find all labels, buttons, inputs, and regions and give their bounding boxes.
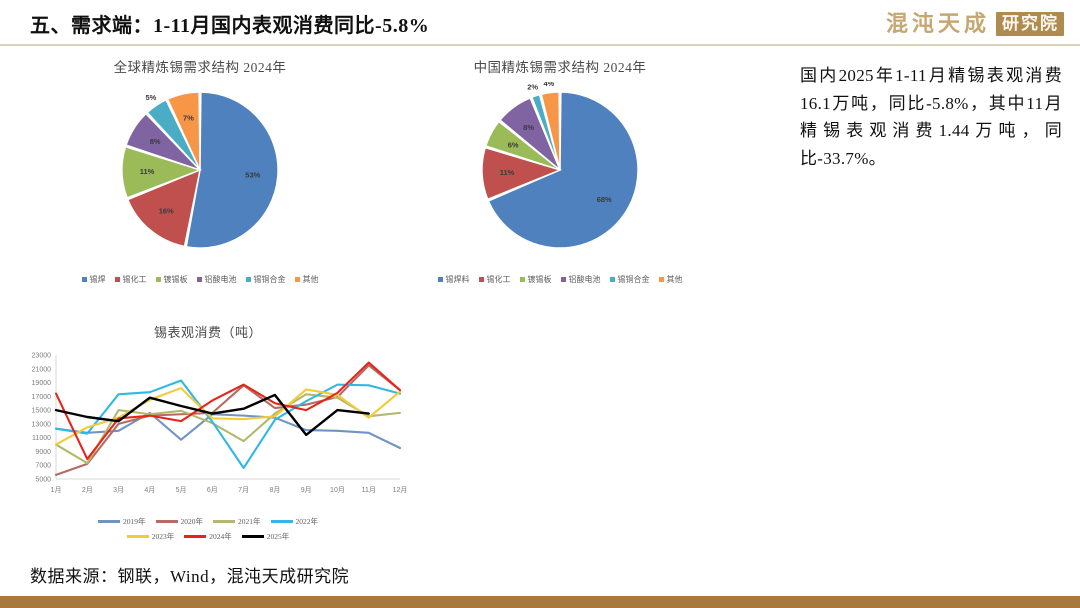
pie-global-stage: 53%16%11%8%5%7% (20, 82, 380, 257)
legend-swatch-icon (156, 277, 161, 282)
chart-title-pie-china: 中国精炼锡需求结构 2024年 (380, 56, 740, 76)
legend-item-label: 锡焊 (90, 274, 106, 285)
side-note-text: 国内2025年1-11月精锡表观消费16.1万吨，同比-5.8%，其中11月精锡… (800, 62, 1062, 172)
legend-item-label: 2022年 (296, 516, 319, 527)
pie-slice-label: 68% (597, 195, 612, 204)
legend-item-label: 2023年 (152, 531, 175, 542)
legend-swatch-icon (479, 277, 484, 282)
legend-item-label: 铝酸电池 (569, 274, 601, 285)
legend-item[interactable]: 其他 (659, 274, 683, 285)
pie-slice-label: 8% (523, 123, 534, 132)
legend-line-swatch-icon (213, 520, 235, 523)
chart-line-consumption: 锡表观消费（吨） 5000700090001100013000150001700… (8, 318, 408, 563)
legend-item-label: 2025年 (267, 531, 290, 542)
legend-item[interactable]: 锡焊 (82, 274, 106, 285)
pie-slice-label: 53% (245, 171, 260, 180)
x-axis-tick-label: 2月 (82, 486, 93, 494)
pie-china-stage: 68%11%6%8%2%4% (380, 82, 740, 257)
header-divider (0, 44, 1080, 46)
company-logo: 混沌天成 研究院 (886, 8, 1064, 40)
footer-accent-bar (0, 596, 1080, 608)
x-axis-tick-label: 9月 (301, 486, 312, 494)
slide-header: 五、需求端：1-11月国内表观消费同比-5.8% 混沌天成 研究院 (0, 0, 1080, 44)
legend-item-label: 2020年 (181, 516, 204, 527)
legend-item-label: 2021年 (238, 516, 261, 527)
pie-slice-label: 11% (140, 167, 155, 176)
legend-item[interactable]: 2021年 (213, 516, 261, 527)
x-axis-tick-label: 1月 (51, 486, 62, 494)
chart-title-pie-global: 全球精炼锡需求结构 2024年 (20, 56, 380, 76)
logo-seal-box: 研究院 (996, 12, 1064, 36)
pie-slice-label: 11% (500, 168, 515, 177)
y-axis-tick-label: 15000 (32, 408, 52, 415)
data-source-label: 数据来源：钢联，Wind，混沌天成研究院 (30, 562, 349, 587)
legend-swatch-icon (115, 277, 120, 282)
legend-swatch-icon (197, 277, 202, 282)
legend-item[interactable]: 2025年 (242, 531, 290, 542)
legend-item[interactable]: 2022年 (271, 516, 319, 527)
legend-item-label: 锡化工 (487, 274, 511, 285)
legend-line-swatch-icon (156, 520, 178, 523)
legend-item-label: 2019年 (123, 516, 146, 527)
legend-swatch-icon (295, 277, 300, 282)
legend-item-label: 镀锡板 (164, 274, 188, 285)
x-axis-tick-label: 4月 (144, 486, 155, 494)
x-axis-tick-label: 3月 (113, 486, 124, 494)
legend-swatch-icon (659, 277, 664, 282)
y-axis-tick-label: 19000 (32, 380, 52, 387)
legend-item[interactable]: 2024年 (184, 531, 232, 542)
x-axis-tick-label: 11月 (362, 486, 376, 494)
page-title: 五、需求端：1-11月国内表观消费同比-5.8% (30, 9, 429, 38)
legend-item-label: 其他 (303, 274, 319, 285)
legend-line-swatch-icon (242, 535, 264, 538)
y-axis-tick-label: 11000 (32, 435, 51, 442)
y-axis-tick-label: 23000 (32, 353, 52, 360)
legend-item-label: 锡化工 (123, 274, 147, 285)
pie-slice-label: 6% (508, 141, 519, 150)
pie-slice-label: 8% (150, 137, 161, 146)
y-axis-tick-label: 13000 (32, 421, 52, 428)
legend-item-label: 2024年 (209, 531, 232, 542)
legend-swatch-icon (561, 277, 566, 282)
pie-slice-label: 7% (183, 114, 194, 123)
pie-china-svg: 68%11%6%8%2%4% (410, 82, 710, 257)
legend-line-swatch-icon (127, 535, 149, 538)
legend-swatch-icon (610, 277, 615, 282)
legend-line-swatch-icon (98, 520, 120, 523)
x-axis-tick-label: 6月 (207, 486, 218, 494)
line-chart-stage: 5000700090001100013000150001700019000210… (8, 347, 408, 507)
legend-item[interactable]: 锡焊料 (438, 274, 470, 285)
y-axis-tick-label: 7000 (35, 463, 51, 470)
legend-item[interactable]: 镀锡板 (520, 274, 552, 285)
line-chart-svg: 5000700090001100013000150001700019000210… (8, 347, 408, 512)
legend-line-chart: 2019年2020年2021年2022年2023年2024年2025年 (8, 516, 408, 546)
legend-pie-china: 锡焊料锡化工镀锡板铝酸电池锡铜合金其他 (380, 274, 740, 285)
pie-slice-label: 5% (145, 93, 156, 102)
legend-item[interactable]: 其他 (295, 274, 319, 285)
legend-item[interactable]: 锡化工 (479, 274, 511, 285)
chart-pie-global: 全球精炼锡需求结构 2024年 53%16%11%8%5%7% 锡焊锡化工镀锡板… (20, 56, 380, 296)
legend-item-label: 铝酸电池 (205, 274, 237, 285)
chart-title-line: 锡表观消费（吨） (8, 322, 408, 341)
legend-item[interactable]: 铝酸电池 (197, 274, 237, 285)
legend-swatch-icon (82, 277, 87, 282)
logo-seal-text: 混沌天成 (886, 13, 990, 35)
line-series (56, 388, 400, 444)
y-axis-tick-label: 21000 (32, 366, 52, 373)
x-axis-tick-label: 8月 (269, 486, 280, 494)
legend-item[interactable]: 2019年 (98, 516, 146, 527)
legend-item-label: 锡铜合金 (618, 274, 650, 285)
chart-pie-china: 中国精炼锡需求结构 2024年 68%11%6%8%2%4% 锡焊料锡化工镀锡板… (380, 56, 740, 296)
legend-item[interactable]: 锡铜合金 (610, 274, 650, 285)
legend-swatch-icon (246, 277, 251, 282)
legend-swatch-icon (520, 277, 525, 282)
legend-item[interactable]: 锡铜合金 (246, 274, 286, 285)
legend-line-swatch-icon (184, 535, 206, 538)
x-axis-tick-label: 10月 (330, 486, 345, 494)
pie-slice-label: 4% (543, 82, 554, 88)
legend-row: 2023年2024年2025年 (8, 531, 408, 542)
y-axis-tick-label: 9000 (35, 449, 51, 456)
legend-item[interactable]: 2020年 (156, 516, 204, 527)
pie-slice-label: 2% (527, 83, 538, 92)
legend-item[interactable]: 2023年 (127, 531, 175, 542)
legend-item-label: 其他 (667, 274, 683, 285)
x-axis-tick-label: 5月 (176, 486, 187, 494)
legend-pie-global: 锡焊锡化工镀锡板铝酸电池锡铜合金其他 (20, 274, 380, 285)
x-axis-tick-label: 12月 (393, 486, 408, 494)
y-axis-tick-label: 5000 (35, 477, 51, 484)
legend-item-label: 锡铜合金 (254, 274, 286, 285)
legend-item-label: 锡焊料 (446, 274, 470, 285)
line-series (56, 394, 400, 463)
pie-global-svg: 53%16%11%8%5%7% (50, 82, 350, 257)
legend-item[interactable]: 镀锡板 (156, 274, 188, 285)
legend-item[interactable]: 锡化工 (115, 274, 147, 285)
x-axis-tick-label: 7月 (238, 486, 249, 494)
legend-line-swatch-icon (271, 520, 293, 523)
y-axis-tick-label: 17000 (32, 394, 52, 401)
legend-row: 2019年2020年2021年2022年 (8, 516, 408, 527)
legend-item-label: 镀锡板 (528, 274, 552, 285)
legend-item[interactable]: 铝酸电池 (561, 274, 601, 285)
legend-swatch-icon (438, 277, 443, 282)
pie-slice-label: 16% (159, 206, 174, 215)
